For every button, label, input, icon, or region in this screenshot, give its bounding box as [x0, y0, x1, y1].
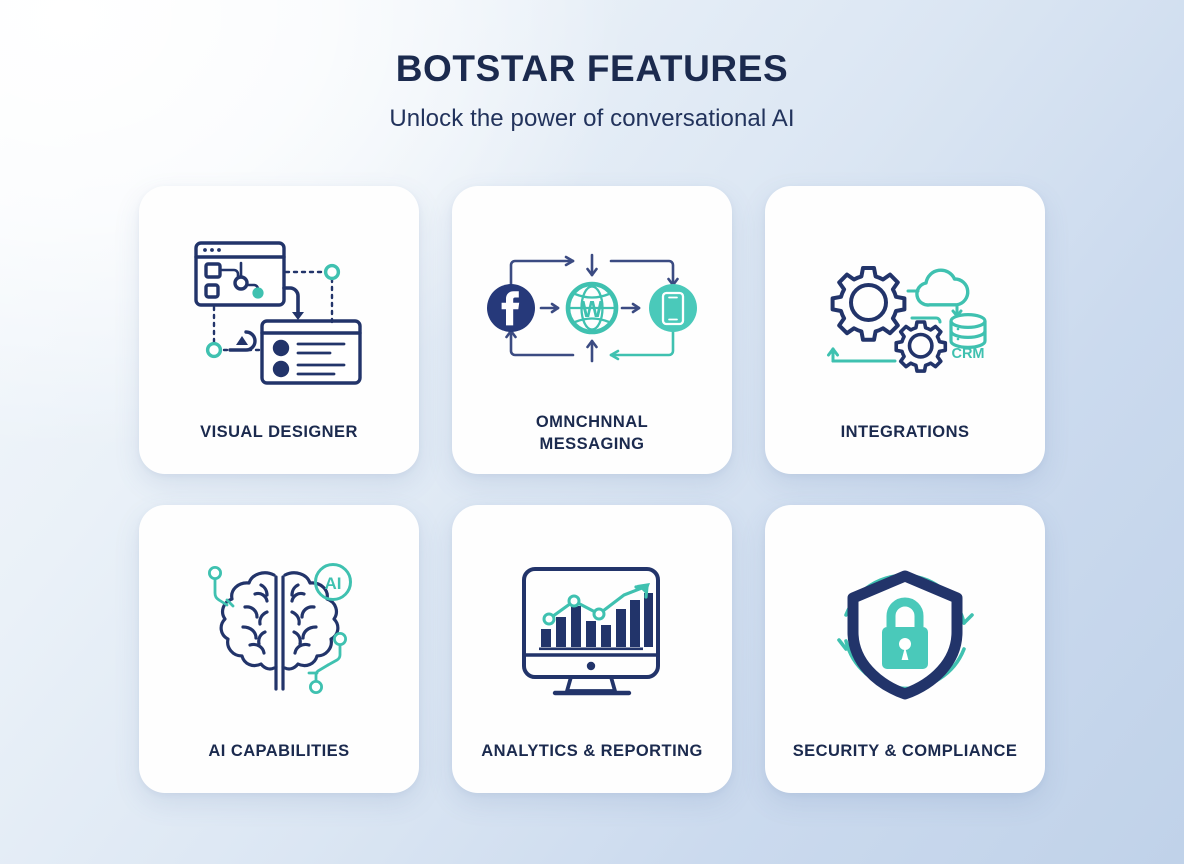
- page-subtitle: Unlock the power of conversational AI: [0, 105, 1184, 133]
- crm-label: CRM: [951, 346, 984, 362]
- feature-label-omnichannel-messaging: OMNCHNNAL MESSAGING: [536, 412, 648, 458]
- shield-lock-icon: [779, 523, 1031, 741]
- feature-card-visual-designer[interactable]: VISUAL DESIGNER: [139, 186, 419, 474]
- feature-label-analytics-reporting: ANALYTICS & REPORTING: [481, 741, 703, 777]
- feature-card-omnichannel-messaging[interactable]: W OMNCHNNAL MESSAGING: [452, 186, 732, 474]
- brain-circuit-icon: AI: [153, 523, 405, 741]
- channels-flow-icon: W: [466, 204, 718, 412]
- feature-label-visual-designer: VISUAL DESIGNER: [200, 422, 358, 458]
- feature-card-analytics-reporting[interactable]: ANALYTICS & REPORTING: [452, 505, 732, 793]
- gears-cloud-database-icon: CRM: [779, 204, 1031, 422]
- feature-label-integrations: INTEGRATIONS: [841, 422, 970, 458]
- monitor-chart-icon: [466, 523, 718, 741]
- feature-card-ai-capabilities[interactable]: AI AI CAPABILITIES: [139, 505, 419, 793]
- feature-label-security-compliance: SECURITY & COMPLIANCE: [793, 741, 1018, 777]
- flow-builder-windows-icon: [153, 204, 405, 422]
- feature-card-security-compliance[interactable]: SECURITY & COMPLIANCE: [765, 505, 1045, 793]
- features-grid: VISUAL DESIGNER: [139, 186, 1045, 793]
- feature-label-ai-capabilities: AI CAPABILITIES: [208, 741, 349, 777]
- page-header: BOTSTAR FEATURES Unlock the power of con…: [0, 0, 1184, 133]
- feature-card-integrations[interactable]: CRM INTEGRATIONS: [765, 186, 1045, 474]
- ai-badge-label: AI: [324, 574, 341, 593]
- page-title: BOTSTAR FEATURES: [0, 48, 1184, 91]
- globe-letter: W: [581, 296, 603, 322]
